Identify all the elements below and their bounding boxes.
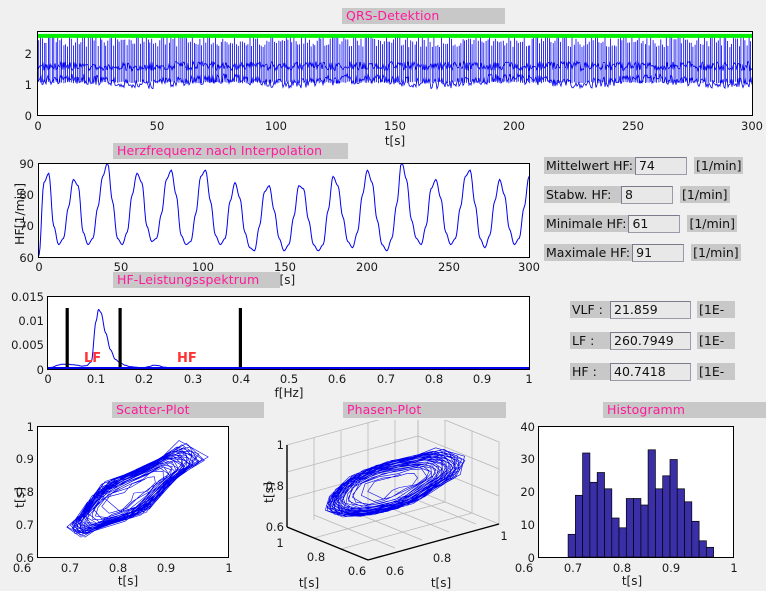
axis-tick-x-qrs: 300 — [741, 119, 763, 133]
axes-phasen — [256, 420, 512, 580]
scatter-svg — [38, 427, 228, 557]
axis-tick-x-sp: 0.8 — [425, 372, 443, 386]
power-unit: [1E- — [697, 363, 735, 380]
axis-tick-y-hf: 60 — [10, 251, 34, 265]
stats-label: Stabw. HF: — [544, 186, 621, 203]
plot-title-leistungsspektrum: HF-Leistungsspektrum — [113, 272, 280, 288]
histogram-svg — [539, 427, 733, 557]
power-unit: [1E- — [697, 332, 735, 349]
stats-group-heart-rate: Mittelwert HF: 74 [1/min] Stabw. HF: 8 [… — [540, 150, 766, 275]
axis-tick-y-sp: 0 — [4, 363, 44, 377]
panel-phasen-plot: Phasen-Plot — [256, 398, 512, 591]
axis-tick-y-hg: 10 — [508, 518, 535, 532]
axis-tick-x-hg: 0.6 — [515, 561, 533, 575]
stats-value-maximale-hf[interactable]: 91 — [632, 244, 684, 262]
plot-title-histogramm: Histogramm — [603, 402, 766, 418]
stats-unit: [1/min] — [687, 215, 737, 232]
stats-row: Stabw. HF: 8 [1/min] — [544, 185, 730, 204]
stats-label: Minimale HF: — [544, 215, 628, 232]
axes-leistungsspektrum — [47, 296, 530, 370]
axis-tick-x-qrs: 100 — [265, 119, 287, 133]
axis-label-x-sc: t[s] — [118, 574, 138, 588]
power-label: HF : — [570, 363, 610, 380]
axis-label-left-ph: t[s] — [299, 576, 319, 590]
axis-tick-right-ph: 1 — [500, 529, 507, 543]
power-label: VLF : — [570, 301, 610, 318]
stats-label: Mittelwert HF: — [544, 157, 635, 174]
phase-3d-svg — [256, 420, 512, 580]
hf-signal-svg — [39, 164, 529, 257]
axis-tick-x-qrs: 150 — [384, 119, 406, 133]
axis-tick-x-sc: 0.8 — [109, 561, 127, 575]
panel-leistungsspektrum: HF-Leistungsspektrum LF HF 0 0.005 0.01 … — [0, 268, 540, 398]
axis-tick-x-sc: 0.6 — [13, 561, 31, 575]
axis-label-right-ph: t[s] — [431, 576, 451, 590]
axis-tick-x-sc: 1 — [225, 561, 232, 575]
spectrum-band-label-lf: LF — [84, 351, 101, 366]
stats-value-stabw-hf[interactable]: 8 — [621, 186, 673, 204]
power-value-hf[interactable]: 40.7418 — [610, 363, 691, 381]
stats-unit: [1/min] — [691, 244, 741, 261]
axis-tick-x-qrs: 250 — [622, 119, 644, 133]
axis-tick-x-sp: 0.1 — [87, 372, 105, 386]
stats-value-minimale-hf[interactable]: 61 — [628, 215, 680, 233]
power-unit: [1E- — [697, 301, 735, 318]
axis-tick-x-sp: 0 — [44, 372, 51, 386]
plot-title-scatter: Scatter-Plot — [112, 402, 264, 418]
axis-tick-y-hg: 30 — [508, 452, 535, 466]
stats-label: Maximale HF: — [544, 244, 632, 261]
spectrum-band-label-hf: HF — [177, 351, 197, 366]
axis-tick-x-sc: 0.7 — [61, 561, 79, 575]
axis-tick-y-hg: 40 — [508, 420, 535, 434]
axis-tick-y-qrs: 0 — [14, 109, 32, 123]
axis-tick-y-sc: 0.7 — [4, 518, 34, 532]
spectrum-svg — [48, 297, 529, 369]
axis-tick-y-sc: 1 — [4, 420, 34, 434]
axis-tick-y-sp: 0.015 — [4, 290, 44, 304]
power-row: VLF : 21.859 [1E- — [570, 300, 735, 319]
power-row: LF : 260.7949 [1E- — [570, 331, 735, 350]
stats-row: Maximale HF: 91 [1/min] — [544, 243, 741, 262]
axis-tick-x-sp: 0.6 — [328, 372, 346, 386]
axis-tick-x-hg: 1 — [730, 561, 737, 575]
axis-tick-x-sp: 0.5 — [280, 372, 298, 386]
axis-tick-x-sp: 0.9 — [473, 372, 491, 386]
plot-title-herzfrequenz: Herzfrequenz nach Interpolation — [113, 143, 348, 159]
axis-tick-x-qrs: 200 — [503, 119, 525, 133]
axis-label-x-hg: t[s] — [622, 574, 642, 588]
panel-herzfrequenz: Herzfrequenz nach Interpolation 60 70 80… — [0, 140, 540, 270]
axis-tick-left-ph: 0.6 — [348, 564, 366, 578]
axis-tick-right-ph: 0.8 — [433, 551, 451, 565]
axes-herzfrequenz — [38, 163, 530, 258]
spectrum-baseline — [48, 367, 529, 369]
stats-row: Minimale HF: 61 [1/min] — [544, 214, 737, 233]
axes-scatter — [37, 426, 229, 558]
axis-tick-z-ph: 0.6 — [254, 520, 284, 534]
axis-tick-y-sp: 0.01 — [4, 314, 44, 328]
axes-histogramm — [538, 426, 734, 558]
stats-unit: [1/min] — [680, 186, 730, 203]
axis-tick-y-hf: 90 — [10, 157, 34, 171]
axis-tick-left-ph: 1 — [276, 536, 283, 550]
panel-scatter-plot: Scatter-Plot 0.6 0.7 0.8 0.9 1 0.6 0.7 0… — [0, 398, 256, 591]
axis-tick-x-qrs: 50 — [150, 119, 165, 133]
stats-value-mittelwert-hf[interactable]: 74 — [635, 157, 687, 175]
axis-tick-x-qrs: 0 — [34, 119, 41, 133]
power-value-vlf[interactable]: 21.859 — [610, 301, 691, 319]
axis-tick-x-hg: 0.8 — [613, 561, 631, 575]
axis-tick-left-ph: 0.8 — [307, 550, 325, 564]
axis-tick-x-sc: 0.9 — [157, 561, 175, 575]
axis-tick-y-sp: 0.005 — [4, 338, 44, 352]
axis-tick-x-sp: 0.2 — [135, 372, 153, 386]
axis-tick-right-ph: 0.6 — [386, 564, 404, 578]
stats-unit: [1/min] — [694, 157, 744, 174]
panel-histogramm: Histogramm 0 10 20 30 40 0.6 0.7 0.8 0.9… — [512, 398, 766, 591]
axis-tick-x-hg: 0.7 — [564, 561, 582, 575]
axis-tick-y-sc: 0.9 — [4, 452, 34, 466]
axis-tick-y-qrs: 2 — [14, 47, 32, 61]
plot-title-qrs: QRS-Detektion — [342, 8, 505, 24]
axis-label-y-sc: t[s] — [12, 487, 27, 508]
stats-row: Mittelwert HF: 74 [1/min] — [544, 156, 743, 175]
axis-tick-y-qrs: 1 — [14, 78, 32, 92]
axis-label-z-ph: t[s] — [261, 482, 276, 503]
axis-tick-z-ph: 1 — [254, 438, 284, 452]
axis-tick-x-sp: 1 — [525, 372, 532, 386]
panel-qrs-detektion: QRS-Detektion 0 1 2 0 50 100 150 200 250… — [0, 0, 766, 140]
axis-tick-x-hg: 0.9 — [662, 561, 680, 575]
axis-tick-x-sp: 0.3 — [184, 372, 202, 386]
power-value-lf[interactable]: 260.7949 — [610, 332, 691, 350]
power-row: HF : 40.7418 [1E- — [570, 362, 735, 381]
power-group-frequency-bands: VLF : 21.859 [1E- LF : 260.7949 [1E- HF … — [540, 295, 766, 400]
axis-label-y-hf: HF[1/min] — [12, 183, 27, 245]
axis-tick-y-hg: 20 — [508, 485, 535, 499]
axis-tick-x-sp: 0.7 — [377, 372, 395, 386]
plot-title-phasen: Phasen-Plot — [343, 402, 506, 418]
axis-tick-x-sp: 0.4 — [232, 372, 250, 386]
power-label: LF : — [570, 332, 610, 349]
axes-qrs — [37, 31, 753, 116]
qrs-signal-svg — [38, 32, 752, 115]
